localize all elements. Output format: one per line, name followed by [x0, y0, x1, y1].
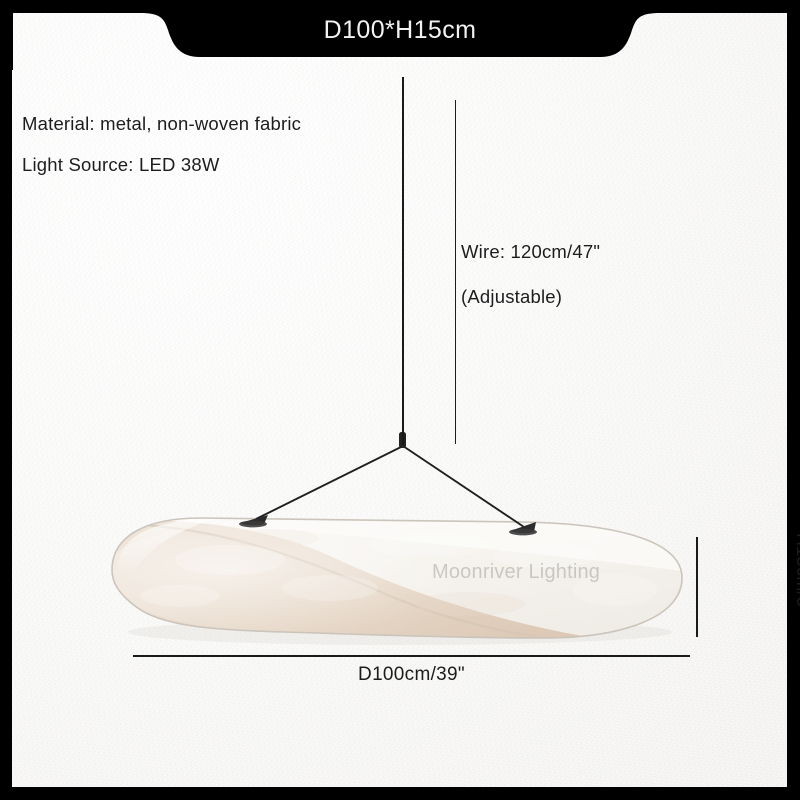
- height-dimension-line: [696, 537, 698, 637]
- wire-info-block: Wire: 120cm/47" (Adjustable): [461, 229, 600, 319]
- wire-length-text: Wire: 120cm/47": [461, 229, 600, 274]
- specification-block: Material: metal, non-woven fabric Light …: [22, 103, 301, 185]
- ceiling-wire: [402, 77, 404, 445]
- page-title: D100*H15cm: [0, 16, 800, 45]
- material-text: Material: metal, non-woven fabric: [22, 103, 301, 144]
- height-dimension-label: H15cm/5": [703, 533, 800, 614]
- brand-watermark: Moonriver Lighting: [432, 561, 600, 584]
- wire-adjustable-text: (Adjustable): [461, 274, 600, 319]
- wire-measure-line: [455, 100, 456, 444]
- product-spec-image: Moonriver Lighting D100cm/39" H15cm/5" M…: [0, 0, 800, 800]
- width-dimension-label: D100cm/39": [133, 664, 690, 686]
- width-dimension-line: [133, 655, 690, 657]
- light-source-text: Light Source: LED 38W: [22, 144, 301, 185]
